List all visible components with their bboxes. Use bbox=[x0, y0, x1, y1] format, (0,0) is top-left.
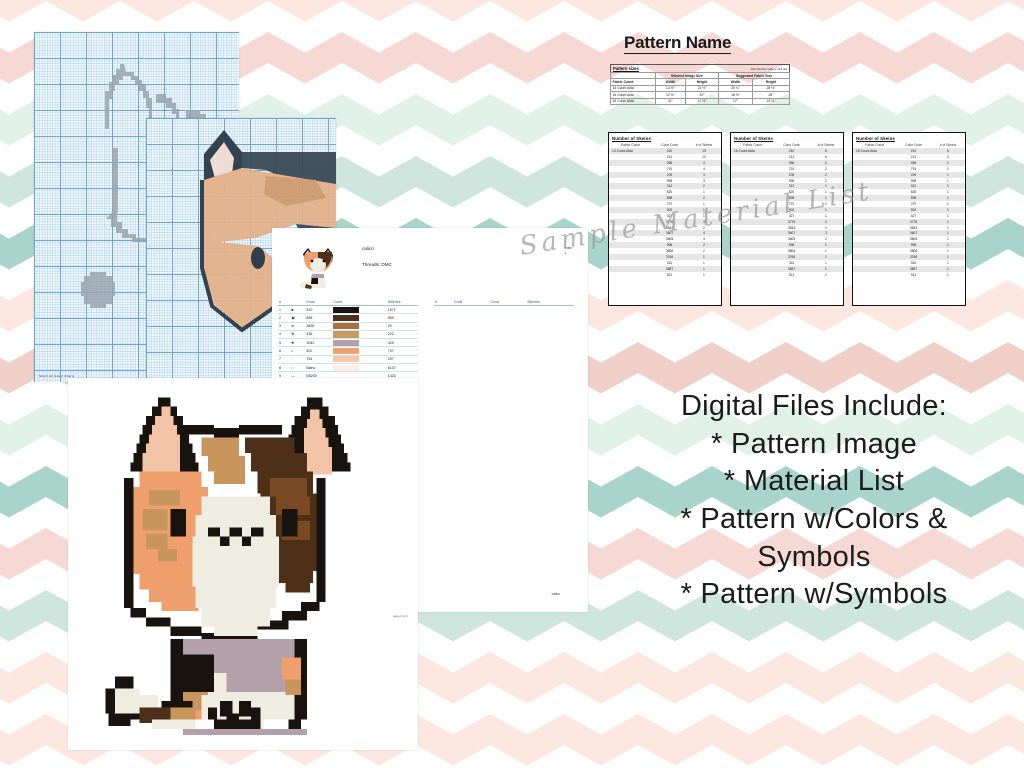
size-cell: 17" bbox=[719, 98, 753, 104]
legend-color-swatch bbox=[332, 347, 386, 355]
legend-column-header: Color bbox=[489, 300, 526, 306]
skein-table-heading: Number of Skeins bbox=[731, 133, 843, 142]
legend-row: 6≈402707 bbox=[278, 347, 418, 355]
skein-table-heading: Number of Skeins bbox=[853, 133, 965, 142]
legend-stitches: 1571 bbox=[387, 306, 418, 314]
legend-row: 2▣898559 bbox=[278, 314, 418, 322]
legend-color-swatch bbox=[332, 322, 386, 330]
legend-symbol: ■ bbox=[290, 306, 305, 314]
skein-row: 9211 bbox=[853, 272, 965, 278]
legend-code: 436 bbox=[305, 330, 332, 338]
legend-stitches: 6107 bbox=[387, 363, 418, 371]
legend-code: 3042 bbox=[305, 339, 332, 347]
legend-symbol: ∷ bbox=[290, 363, 305, 371]
legend-row: 4❁436222 bbox=[278, 330, 418, 338]
digital-files-item: * Pattern w/Symbols bbox=[612, 576, 1016, 614]
legend-code: 310 bbox=[305, 306, 332, 314]
skein-color-code: 921 bbox=[896, 272, 931, 278]
chevron-stripe bbox=[600, 745, 748, 768]
preview-page-label: page 2 of 2 bbox=[393, 614, 408, 618]
skein-rows-table: Fabric CountColor Code# of Skeins14 Coun… bbox=[609, 142, 721, 277]
skein-table-16ct: Number of SkeinsFabric CountColor Code# … bbox=[730, 132, 844, 306]
pattern-sizes-heading: Pattern sizes bbox=[613, 66, 639, 71]
legend-number: 4 bbox=[278, 330, 290, 338]
index-value: 1 bbox=[564, 251, 572, 256]
digital-files-item: * Pattern Image bbox=[612, 426, 1016, 464]
legend-column-header: Stitches bbox=[526, 300, 574, 306]
chevron-stripe bbox=[0, 745, 8, 768]
skein-count: 1 bbox=[809, 272, 843, 278]
skein-color-code: 921 bbox=[774, 272, 809, 278]
legend-color-swatch bbox=[332, 314, 386, 322]
threads-brand: Threads: DMC bbox=[362, 262, 392, 267]
skein-row: 9211 bbox=[609, 272, 721, 278]
calico-cat-illustration bbox=[90, 384, 400, 736]
legend-number: 1 bbox=[278, 306, 290, 314]
design-thumbnail bbox=[294, 244, 342, 292]
legend-symbol: ≈ bbox=[290, 347, 305, 355]
legend-stitches: 257 bbox=[387, 355, 418, 363]
legend-color-swatch bbox=[332, 363, 386, 371]
skein-fabric-count bbox=[609, 272, 652, 278]
chevron-stripe bbox=[452, 745, 600, 768]
size-cell: 11" bbox=[655, 98, 685, 104]
skein-fabric-count bbox=[853, 272, 896, 278]
skein-fabric-count bbox=[731, 272, 774, 278]
material-list-document: Pattern Name Pattern sizes 100 stitches … bbox=[600, 18, 992, 304]
index-block: Index 1 bbox=[564, 246, 572, 256]
legend-color-swatch bbox=[332, 330, 386, 338]
legend-stitches: 425 bbox=[387, 339, 418, 347]
legend-row: 5✤3042425 bbox=[278, 339, 418, 347]
legend-number: 6 bbox=[278, 347, 290, 355]
size-cell: 18 Count Aida bbox=[611, 98, 656, 104]
stitch-count-note: 100 stitches wide x 113 tall bbox=[750, 67, 787, 71]
legend-color-swatch bbox=[332, 339, 386, 347]
design-name: calico bbox=[362, 246, 374, 251]
color-legend-table: #CodeColorStitches1■31015712▣8985593⊛382… bbox=[278, 300, 418, 381]
legend-stitches: 29 bbox=[387, 322, 418, 330]
digital-files-item: * Material List bbox=[612, 463, 1016, 501]
legend-column-header: # bbox=[434, 300, 453, 306]
skein-table-heading: Number of Skeins bbox=[609, 133, 721, 142]
poster-canvas: Stitch Art Easy! Charts bbox=[0, 0, 1024, 768]
document-title: Pattern Name bbox=[624, 34, 731, 54]
legend-row: 8∷Blanc6107 bbox=[278, 363, 418, 371]
skein-table-14ct: Number of SkeinsFabric CountColor Code# … bbox=[608, 132, 722, 306]
legend-code: 3826 bbox=[305, 322, 332, 330]
legend-symbol: ▣ bbox=[290, 314, 305, 322]
digital-files-heading: Digital Files Include: bbox=[612, 388, 1016, 426]
size-cell: 17 ½" bbox=[686, 98, 719, 104]
skein-count: 1 bbox=[931, 272, 965, 278]
digital-files-item: * Pattern w/Colors & bbox=[612, 501, 1016, 539]
legend-symbol: ⊛ bbox=[290, 322, 305, 330]
chevron-stripe bbox=[896, 745, 1024, 768]
skein-rows-table: Fabric CountColor Code# of Skeins18 Coun… bbox=[853, 142, 965, 277]
legend-column-header: Code bbox=[453, 300, 490, 306]
chevron-stripe bbox=[748, 745, 896, 768]
size-row: 18 Count Aida11"17 ½"17"23 ½" bbox=[611, 98, 790, 104]
color-legend-table-right: #CodeColorStitches bbox=[434, 300, 574, 306]
skein-rows-table: Fabric CountColor Code# of Skeins16 Coun… bbox=[731, 142, 843, 277]
legend-code: 754 bbox=[305, 355, 332, 363]
legend-number: 8 bbox=[278, 363, 290, 371]
digital-files-include: Digital Files Include:* Pattern Image* M… bbox=[612, 388, 1016, 614]
size-cell: 23 ½" bbox=[753, 98, 790, 104]
legend-row: 3⊛382629 bbox=[278, 322, 418, 330]
legend-symbol: ✤ bbox=[290, 339, 305, 347]
legend-code: 402 bbox=[305, 347, 332, 355]
skein-row: 9211 bbox=[731, 272, 843, 278]
legend-color-swatch bbox=[332, 306, 386, 314]
legend-stitches: 222 bbox=[387, 330, 418, 338]
legend-color-swatch bbox=[332, 355, 386, 363]
legend-row: 7·754257 bbox=[278, 355, 418, 363]
legend-number: 5 bbox=[278, 339, 290, 347]
skein-count: 1 bbox=[687, 272, 721, 278]
legend-stitches: 707 bbox=[387, 347, 418, 355]
legend-symbol: · bbox=[290, 355, 305, 363]
legend-row: 1■3101571 bbox=[278, 306, 418, 314]
pattern-sizes-table: Stitched Image SizeSuggested Fabric Size… bbox=[610, 72, 790, 105]
page-footer-name: calico bbox=[552, 592, 560, 596]
legend-number: 3 bbox=[278, 322, 290, 330]
skein-table-18ct: Number of SkeinsFabric CountColor Code# … bbox=[852, 132, 966, 306]
skein-color-code: 921 bbox=[652, 272, 687, 278]
digital-files-item: Symbols bbox=[612, 539, 1016, 577]
legend-stitches: 559 bbox=[387, 314, 418, 322]
legend-number: 7 bbox=[278, 355, 290, 363]
legend-code: Blanc bbox=[305, 363, 332, 371]
legend-number: 2 bbox=[278, 314, 290, 322]
pattern-preview-page: page 2 of 2 bbox=[68, 378, 418, 750]
legend-code: 898 bbox=[305, 314, 332, 322]
legend-symbol: ❁ bbox=[290, 330, 305, 338]
